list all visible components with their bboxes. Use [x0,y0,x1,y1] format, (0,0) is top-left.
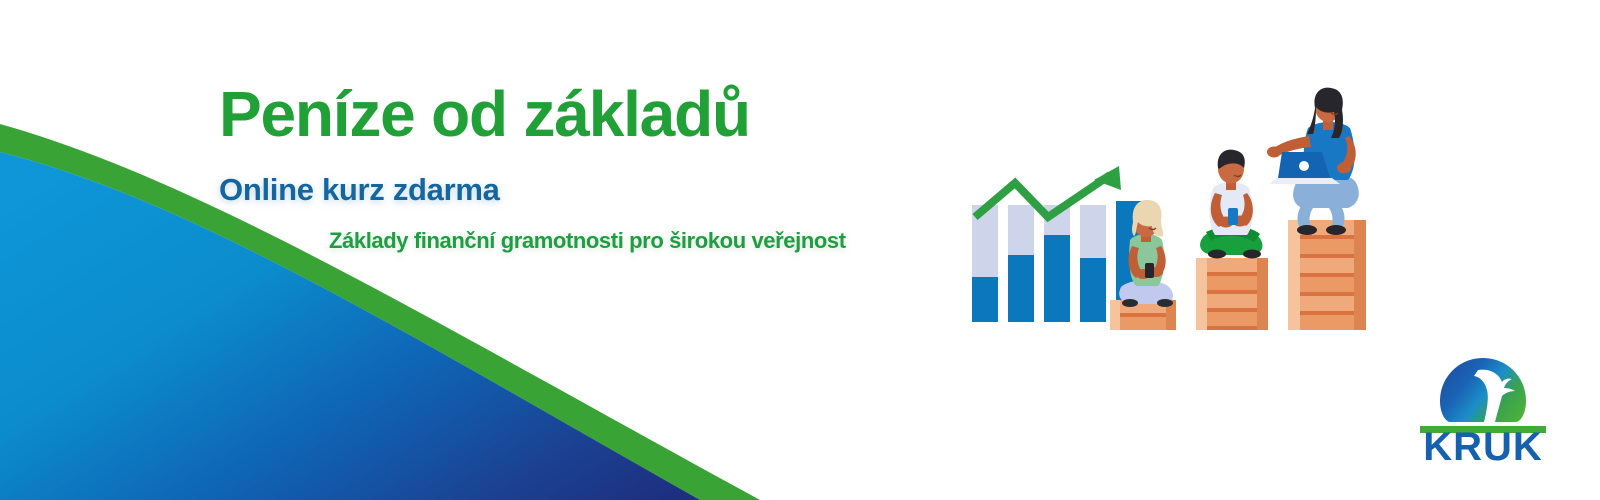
bar-4-remainder [1080,205,1106,258]
person-sitting-laptop [1267,88,1366,330]
smartphone-icon-2 [1228,208,1238,225]
logo-wordmark: KRUK [1423,425,1543,464]
bar-4-filled [1080,258,1106,322]
financial-literacy-illustration [930,80,1400,350]
page-title: Peníze od základů [219,82,939,146]
raven-emblem-icon [1440,358,1526,422]
bar-3-filled [1044,235,1070,322]
banner-root: Peníze od základů Online kurz zdarma Zák… [0,0,1600,500]
coin-stack-3 [1288,220,1366,330]
bar-2-filled [1008,255,1034,322]
smartphone-icon [1145,263,1154,278]
person-sitting-phone-dark [1196,150,1268,330]
coin-stack-2 [1196,258,1268,330]
subtitle: Online kurz zdarma [219,146,939,208]
bar-2-remainder [1008,205,1034,255]
kruk-logo: KRUK [1398,352,1568,464]
text-block: Peníze od základů Online kurz zdarma Zák… [219,82,939,254]
bar-1-filled [972,277,998,322]
tagline: Základy finanční gramotnosti pro širokou… [219,208,939,254]
